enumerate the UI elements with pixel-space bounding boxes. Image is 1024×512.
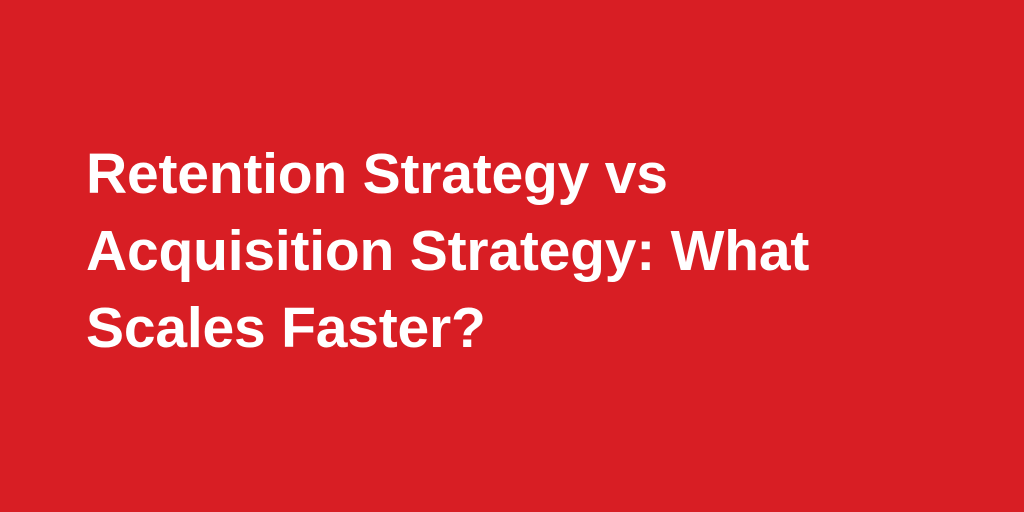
headline-block: Retention Strategy vs Acquisition Strate… [86,136,926,367]
banner-canvas: Retention Strategy vs Acquisition Strate… [0,0,1024,512]
page-title: Retention Strategy vs Acquisition Strate… [86,136,926,367]
